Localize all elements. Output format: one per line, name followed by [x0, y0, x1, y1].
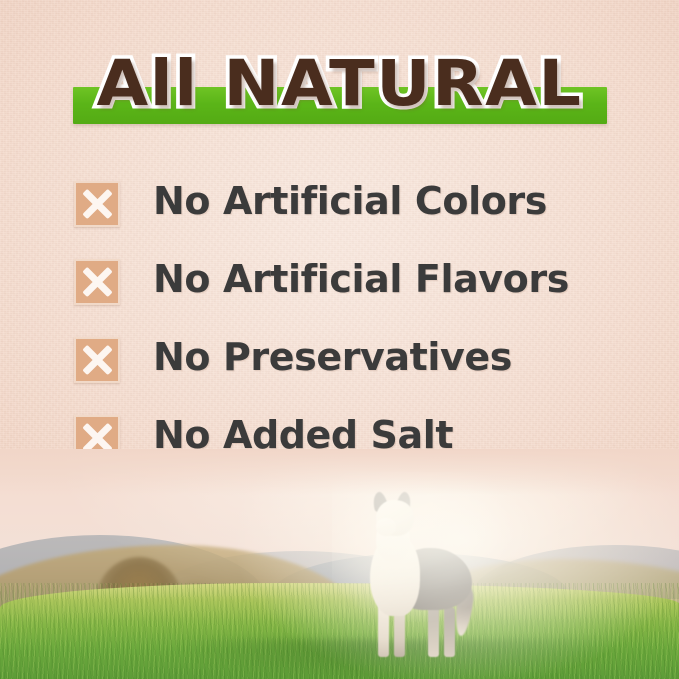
claim-label: No Artificial Flavors: [153, 254, 569, 304]
claim-row: No Preservatives: [74, 337, 634, 415]
x-mark-icon: [74, 337, 120, 383]
page-title: All NATURAL: [0, 47, 679, 121]
claim-label: No Preservatives: [153, 332, 512, 382]
dog-leg: [428, 603, 439, 657]
x-mark-icon: [74, 259, 120, 305]
claim-label: No Artificial Colors: [153, 176, 547, 226]
claims-list: No Artificial Colors No Artificial Flavo…: [74, 181, 634, 493]
claim-row: No Artificial Colors: [74, 181, 634, 259]
dog-muzzle: [376, 518, 396, 536]
dog-leg: [444, 607, 455, 657]
claim-row: No Artificial Flavors: [74, 259, 634, 337]
headline-block: All NATURAL: [0, 47, 679, 133]
dog-figure: [356, 492, 482, 657]
x-mark-icon: [74, 181, 120, 227]
all-natural-poster: All NATURAL No Artificial Colors No Arti…: [0, 0, 679, 679]
landscape-photo: [0, 449, 679, 679]
